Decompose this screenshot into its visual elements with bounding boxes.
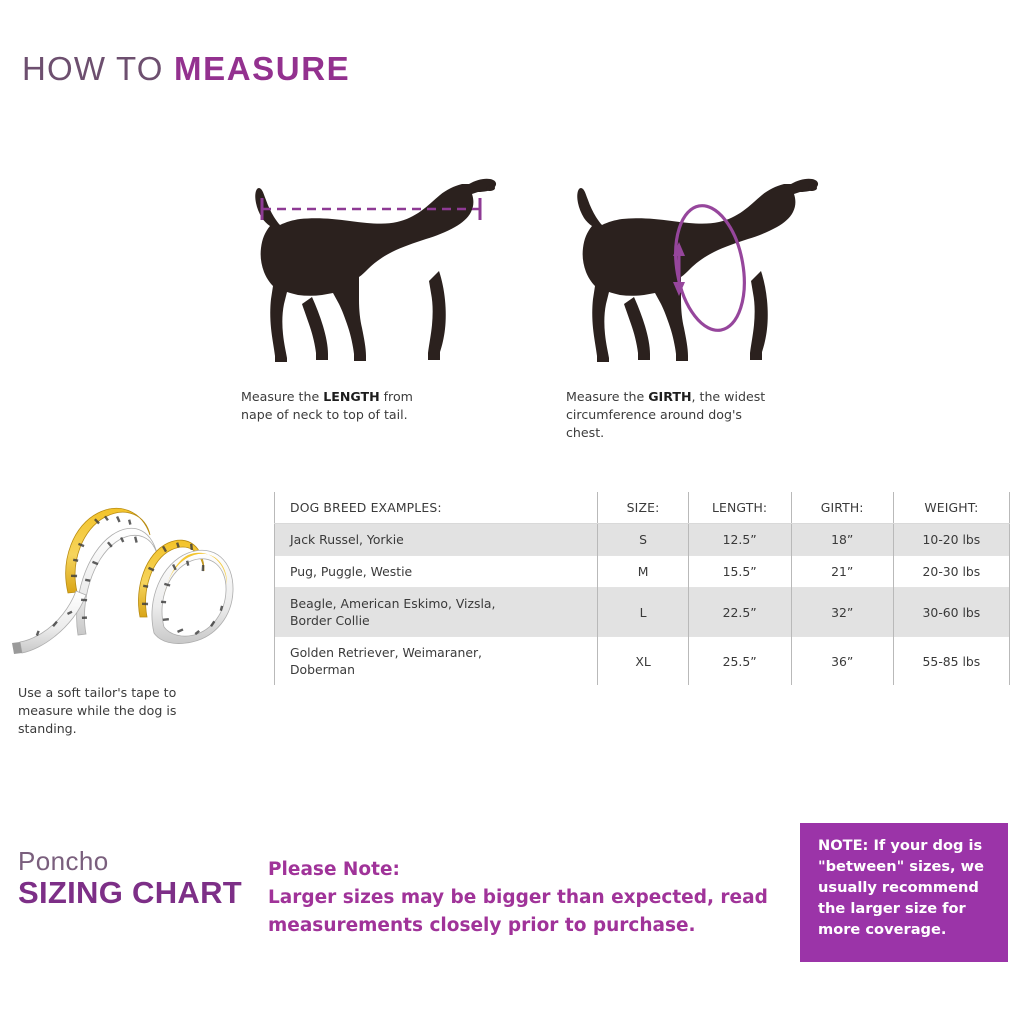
please-note-body: Larger sizes may be bigger than expected… [268,887,768,936]
cell-weight: 10-20 lbs [893,524,1009,556]
column-header-weight: WEIGHT: [893,492,1009,524]
page-title: HOW TO MEASURE [22,50,350,88]
table-row: Beagle, American Eskimo, Vizsla,Border C… [275,588,1010,637]
page-title-part2: MEASURE [174,50,350,87]
cell-weight: 55-85 lbs [893,637,1009,686]
tape-caption-line1: Use a soft tailor's tape to [18,685,176,700]
table-row: Jack Russel, YorkieS12.5”18”10-20 lbs [275,524,1010,556]
cell-girth: 32” [791,588,893,637]
length-caption: Measure the LENGTH from nape of neck to … [241,388,486,424]
cell-size: XL [598,637,688,686]
girth-keyword: GIRTH [648,389,691,404]
cell-length: 25.5” [688,637,791,686]
tape-caption-line2: measure while the dog is [18,703,176,718]
column-header-girth: GIRTH: [791,492,893,524]
brand-line-sizing-chart: SIZING CHART [18,877,242,909]
cell-length: 12.5” [688,524,791,556]
length-illustration [226,168,506,368]
cell-girth: 36” [791,637,893,686]
cell-weight: 30-60 lbs [893,588,1009,637]
cell-length: 22.5” [688,588,791,637]
please-note-block: Please Note: Larger sizes may be bigger … [268,856,778,940]
sizing-table: DOG BREED EXAMPLES: SIZE: LENGTH: GIRTH:… [274,492,1010,685]
dashed-length-arrow-icon [256,190,486,234]
table-row: Pug, Puggle, WestieM15.5”21”20-30 lbs [275,556,1010,588]
brand-title: Poncho SIZING CHART [18,848,242,908]
page-title-part1: HOW TO [22,50,174,87]
girth-caption-line1-a: Measure the [566,389,648,404]
cell-size: L [598,588,688,637]
coiled-tape-measure-icon [12,487,247,667]
cell-breed: Jack Russel, Yorkie [275,524,598,556]
length-caption-line1-a: Measure the [241,389,323,404]
cell-size: M [598,556,688,588]
length-caption-line1-c: from [380,389,413,404]
note-callout-text: NOTE: If your dog is "between" sizes, we… [818,837,984,938]
cell-breed: Beagle, American Eskimo, Vizsla,Border C… [275,588,598,637]
length-keyword: LENGTH [323,389,379,404]
tape-caption: Use a soft tailor's tape to measure whil… [18,684,218,738]
table-body: Jack Russel, YorkieS12.5”18”10-20 lbsPug… [275,524,1010,686]
cell-girth: 18” [791,524,893,556]
girth-caption-line1-c: , the widest [692,389,766,404]
tape-measure-illustration [12,487,247,667]
cell-size: S [598,524,688,556]
cell-girth: 21” [791,556,893,588]
girth-caption: Measure the GIRTH, the widest circumfere… [566,388,791,442]
cell-weight: 20-30 lbs [893,556,1009,588]
please-note-heading: Please Note: [268,856,778,884]
note-callout-box: NOTE: If your dog is "between" sizes, we… [800,823,1008,962]
cell-breed: Golden Retriever, Weimaraner,Doberman [275,637,598,686]
column-header-size: SIZE: [598,492,688,524]
girth-illustration [548,168,828,368]
table-row: Golden Retriever, Weimaraner,DobermanXL2… [275,637,1010,686]
length-caption-line2: nape of neck to top of tail. [241,407,408,422]
girth-ellipse-arrow-icon [652,190,772,360]
cell-breed: Pug, Puggle, Westie [275,556,598,588]
column-header-breed: DOG BREED EXAMPLES: [275,492,598,524]
brand-line-poncho: Poncho [18,848,242,875]
tape-caption-line3: standing. [18,721,77,736]
girth-caption-line2: circumference around dog's [566,407,742,422]
cell-length: 15.5” [688,556,791,588]
girth-caption-line3: chest. [566,425,604,440]
table-header-row: DOG BREED EXAMPLES: SIZE: LENGTH: GIRTH:… [275,492,1010,524]
column-header-length: LENGTH: [688,492,791,524]
